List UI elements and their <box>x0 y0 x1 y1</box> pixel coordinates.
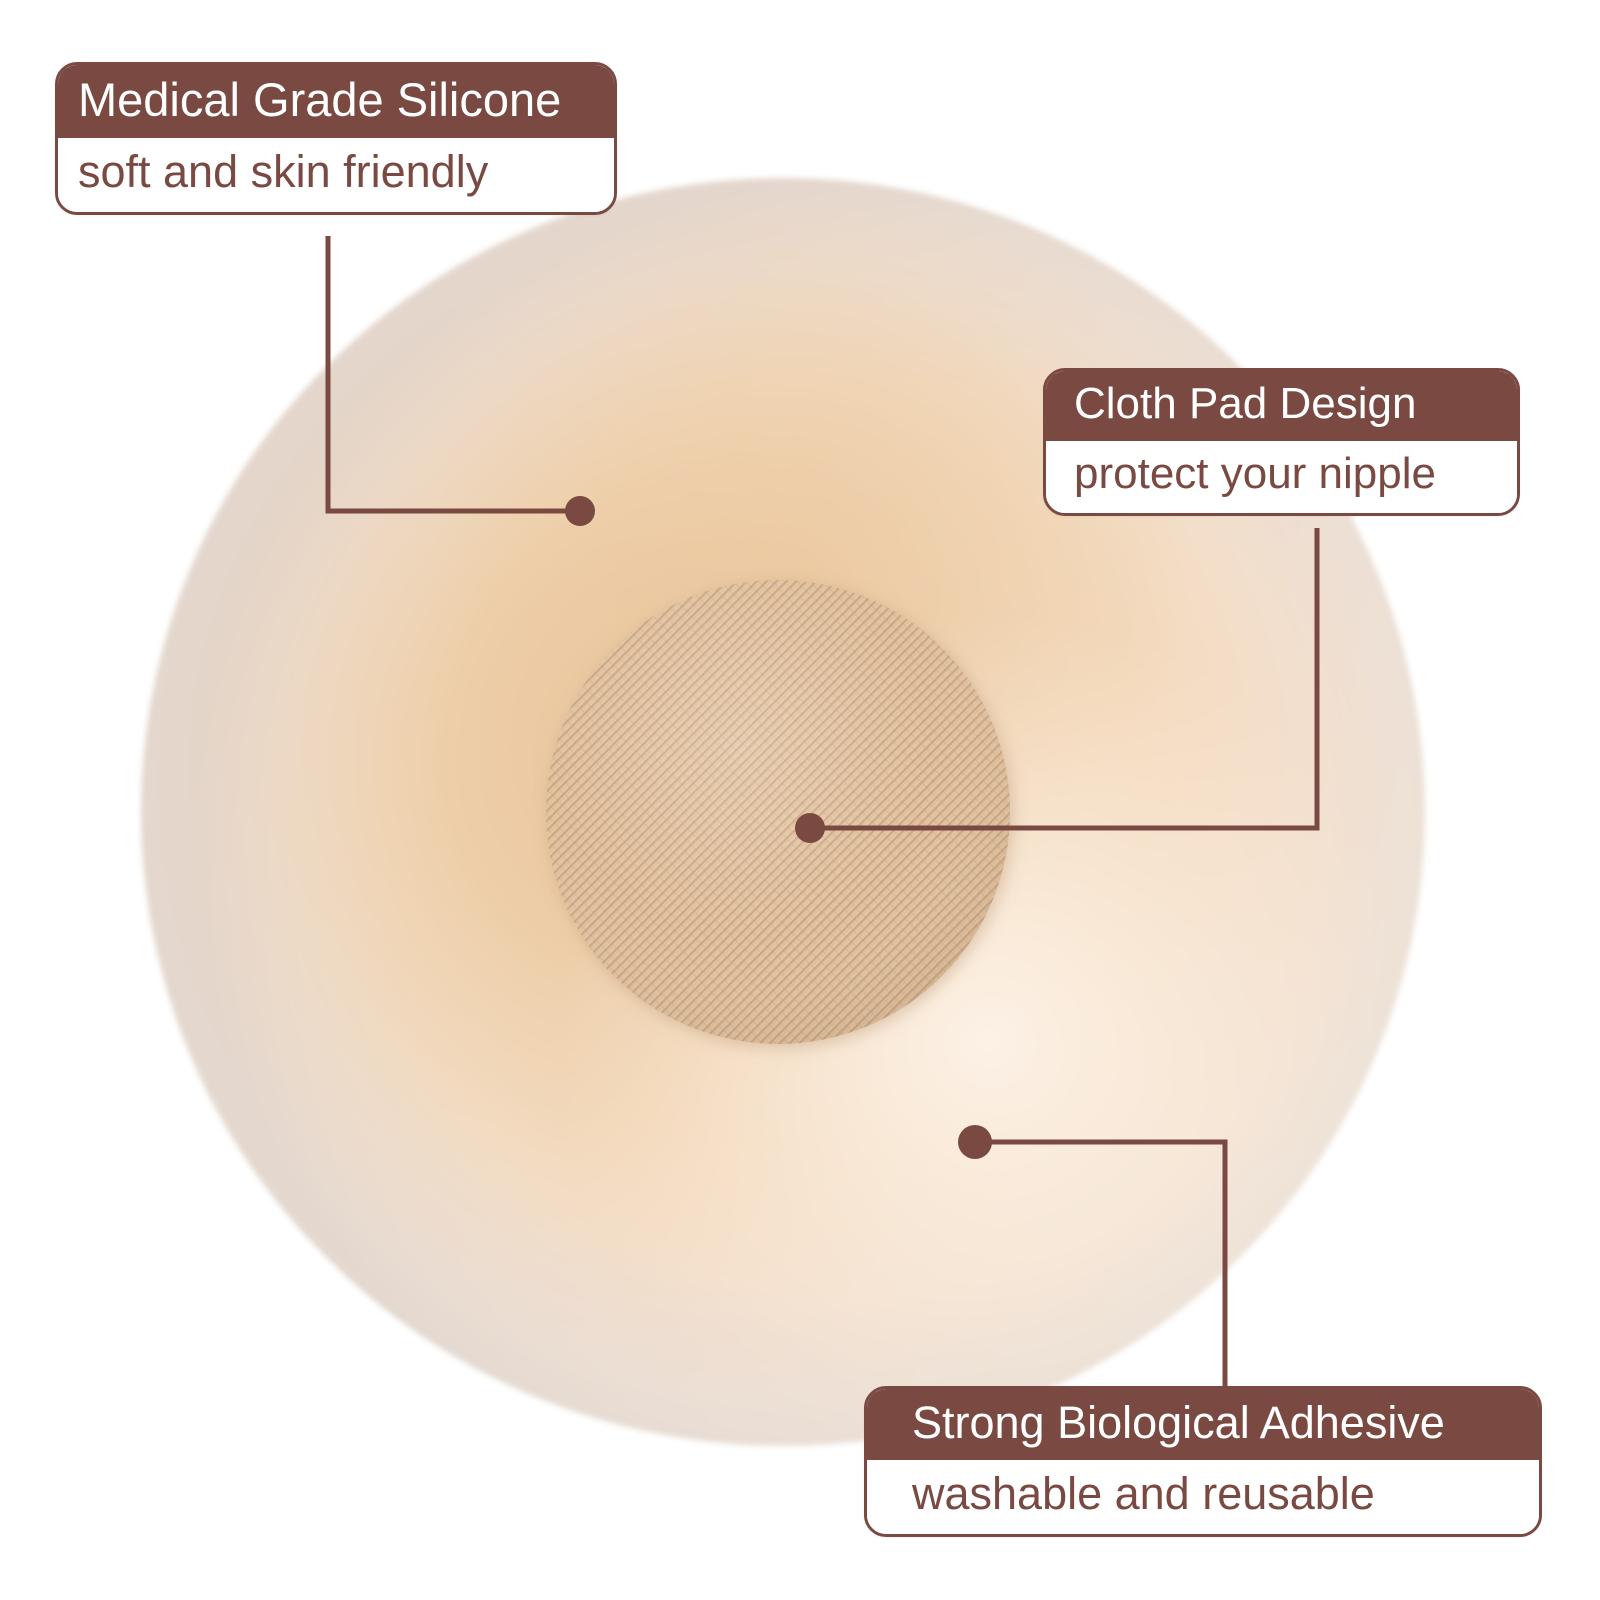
callout-title-silicone: Medical Grade Silicone <box>58 65 614 138</box>
callout-subtitle-adhesive: washable and reusable <box>867 1460 1539 1533</box>
callout-title-adhesive: Strong Biological Adhesive <box>867 1389 1539 1460</box>
product-illustration <box>0 0 1600 1600</box>
callout-subtitle-cloth: protect your nipple <box>1046 441 1517 513</box>
callout-title-cloth: Cloth Pad Design <box>1046 371 1517 441</box>
callout-strong-biological-adhesive[interactable]: Strong Biological Adhesive washable and … <box>864 1386 1542 1537</box>
callout-medical-grade-silicone[interactable]: Medical Grade Silicone soft and skin fri… <box>55 62 617 215</box>
cloth-nipple-pad <box>546 580 1010 1044</box>
callout-cloth-pad-design[interactable]: Cloth Pad Design protect your nipple <box>1043 368 1520 516</box>
callout-subtitle-silicone: soft and skin friendly <box>58 138 614 211</box>
infographic-canvas: Medical Grade Silicone soft and skin fri… <box>0 0 1600 1600</box>
